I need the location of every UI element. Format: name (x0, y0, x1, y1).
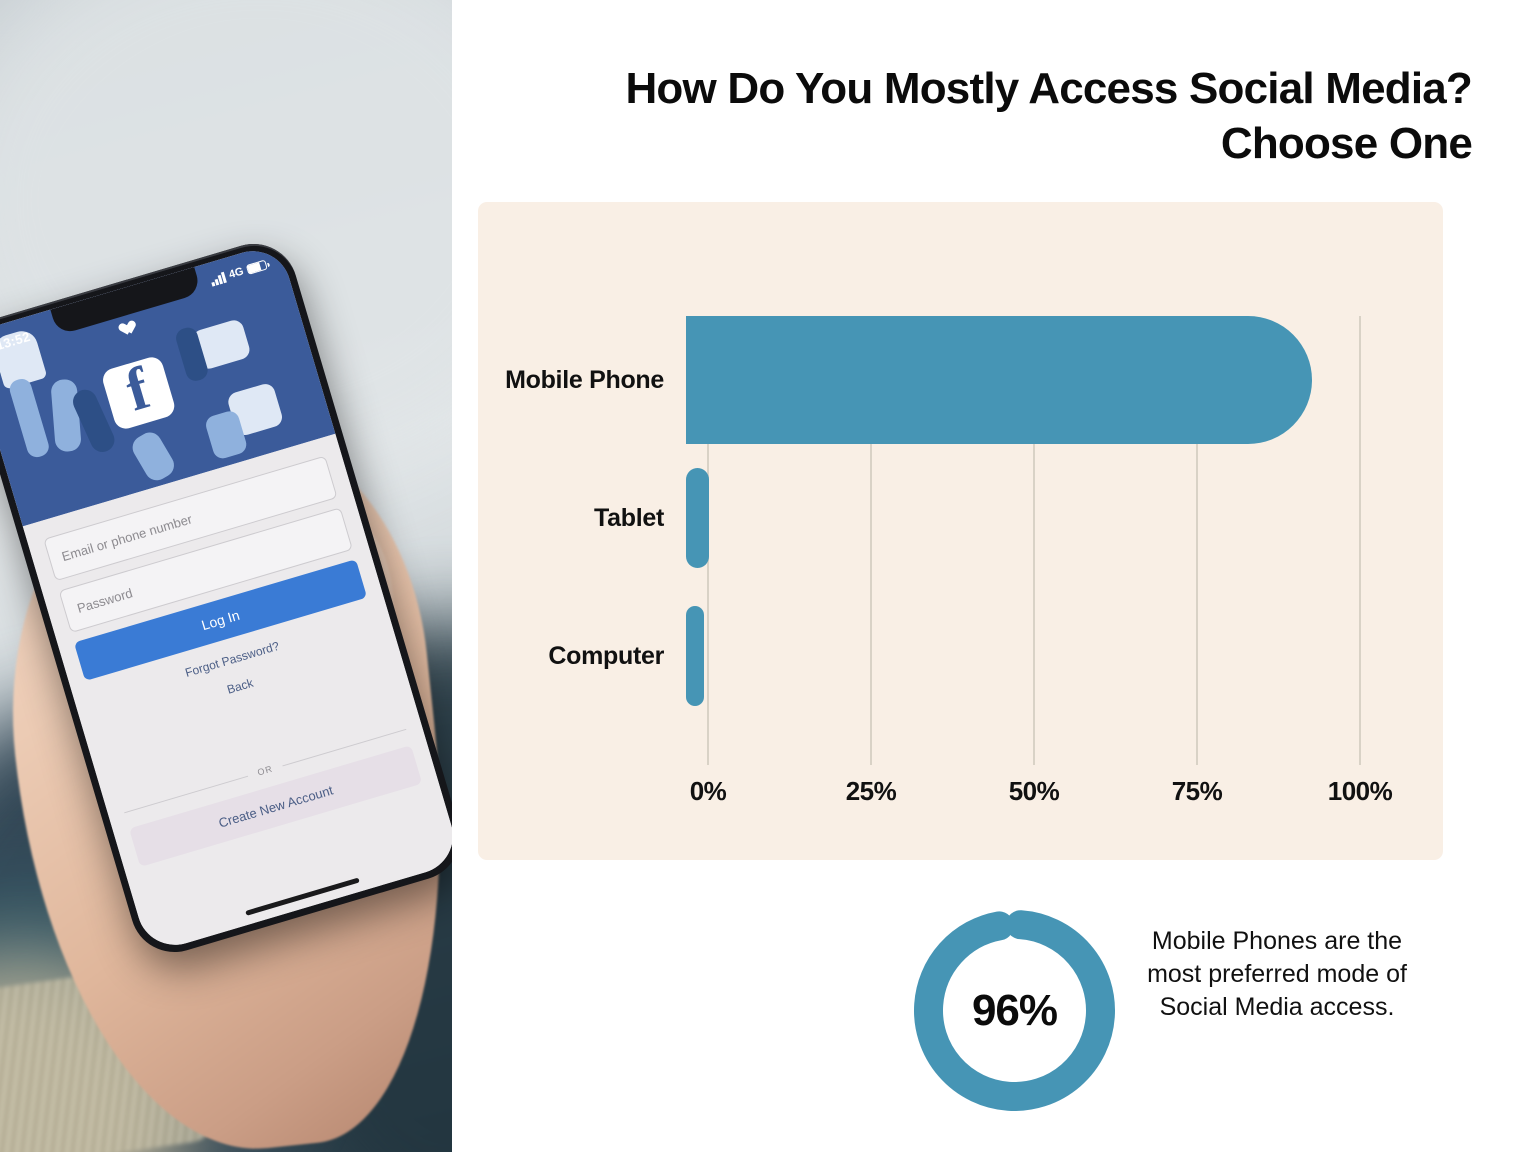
donut-chart: 96% (912, 908, 1117, 1113)
bar-track (686, 316, 1443, 444)
bar[interactable] (686, 316, 1312, 444)
infographic-content: How Do You Mostly Access Social Media? C… (452, 0, 1536, 1152)
x-axis-tick-label: 50% (1009, 776, 1060, 807)
bar[interactable] (686, 468, 709, 568)
page-title-line-1: How Do You Mostly Access Social Media? (492, 62, 1472, 117)
network-type-label: 4G (228, 265, 245, 281)
summary-caption: Mobile Phones are the most preferred mod… (1132, 925, 1422, 1024)
donut-value-label: 96% (912, 908, 1117, 1113)
page-title-line-2: Choose One (492, 117, 1472, 172)
heart-icon (121, 320, 138, 337)
battery-icon (246, 260, 268, 275)
x-axis-tick-label: 25% (846, 776, 897, 807)
facebook-logo (100, 354, 177, 431)
bar-row: Tablet (478, 454, 1443, 582)
bar[interactable] (686, 606, 704, 706)
x-axis-tick-label: 100% (1328, 776, 1393, 807)
bar-category-label: Tablet (478, 504, 686, 533)
status-bar-indicators: 4G (209, 259, 268, 287)
hand-art (128, 428, 178, 485)
or-divider-label: OR (256, 764, 274, 778)
bar-row: Mobile Phone (478, 316, 1443, 444)
phone-photo: 13:52 4G Email or phone number Password … (0, 0, 452, 1152)
signal-icon (210, 271, 228, 286)
bar-row: Computer (478, 592, 1443, 720)
bar-track (686, 592, 1443, 720)
bar-track (686, 454, 1443, 582)
bar-category-label: Mobile Phone (478, 366, 686, 395)
arm-art (7, 377, 51, 460)
password-field-placeholder: Password (75, 585, 134, 616)
bar-category-label: Computer (478, 642, 686, 671)
bar-chart: Mobile PhoneTabletComputer 0%25%50%75%10… (478, 202, 1443, 860)
x-axis-tick-label: 0% (690, 776, 727, 807)
page-title: How Do You Mostly Access Social Media? C… (492, 62, 1472, 171)
x-axis-tick-label: 75% (1172, 776, 1223, 807)
